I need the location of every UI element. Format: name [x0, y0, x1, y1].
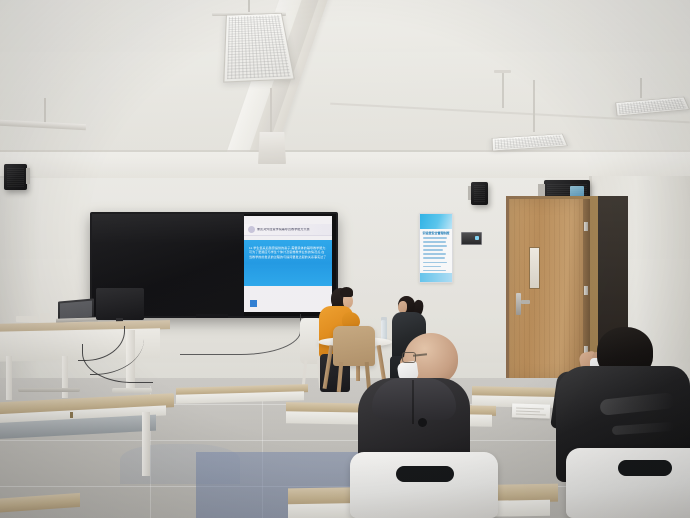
slide-content-band: 11.学生集采后随意提供的案子,需要具体的辅导教学能力,可为了更顺应与学生个体计…: [244, 240, 332, 286]
person-orange-hoodie-hair: [340, 287, 353, 297]
classroom-door[interactable]: [509, 199, 585, 380]
classroom-photo: 重庆对外经贸学院辅导员教学能力大赛 11.学生集采后随意提供的案子,需要具体的辅…: [0, 0, 690, 518]
slide-header: 重庆对外经贸学院辅导员教学能力大赛: [244, 224, 332, 236]
chair-handle-slot: [396, 466, 454, 482]
chair-handle-slot: [618, 460, 672, 476]
wall-speaker-left-bracket: [26, 168, 30, 184]
ceiling-speaker-left: [258, 132, 286, 164]
person-bald-mask-hood: [372, 378, 456, 420]
door-lock-icon[interactable]: [521, 300, 530, 304]
ceiling-soffit-line: [0, 150, 690, 152]
white-chair-center[interactable]: [350, 452, 498, 518]
desk-item-cup: [40, 313, 50, 322]
student-desk-leg-left: [142, 412, 150, 476]
door-wood-grain: [509, 199, 585, 380]
led-panel-rod-center2: [533, 80, 535, 132]
led-panel-mount-center: [494, 70, 511, 73]
laptop-screen: [60, 301, 92, 320]
door-hinge-top: [584, 222, 588, 231]
water-bottle[interactable]: [381, 320, 387, 340]
poster-text-lines: [423, 237, 449, 278]
wall-control-panel[interactable]: [461, 232, 482, 245]
teacher-desk-leg-left: [6, 356, 12, 400]
hood-toggle-icon: [418, 418, 427, 427]
display-glare: [92, 214, 244, 244]
presentation-slide: 重庆对外经贸学院辅导员教学能力大赛 11.学生集采后随意提供的案子,需要具体的辅…: [244, 216, 332, 312]
desktop-monitor[interactable]: [96, 288, 144, 320]
hood-seam: [412, 380, 414, 424]
led-panel-rod-center: [502, 72, 504, 108]
paper-sheet-mid[interactable]: [512, 403, 550, 418]
white-chair-right[interactable]: [566, 448, 690, 518]
door-window: [529, 247, 540, 289]
poster-header-banner: [420, 214, 452, 229]
wall-speaker-right: [471, 182, 488, 205]
desk-item-paper: [16, 316, 38, 322]
ceiling-speaker-rod: [270, 88, 272, 136]
door-hinge-mid: [584, 286, 588, 295]
wall-information-poster: 实验室安全管理制度: [419, 213, 453, 283]
floor-cable-tray: [18, 388, 80, 392]
desk-hook-icon: [70, 412, 73, 418]
desk-cables: [78, 326, 178, 386]
slide-title: 重庆对外经贸学院辅导员教学能力大赛: [257, 228, 310, 231]
poster-heading: 实验室安全管理制度: [420, 231, 452, 235]
slide-body-text: 11.学生集采后随意提供的案子,需要具体的辅导教学能力,可为了更顺应与学生个体计…: [249, 246, 327, 259]
status-led-icon: [475, 236, 479, 240]
teacher-desk-foot: [112, 388, 152, 393]
ceiling-soffit: [0, 152, 690, 180]
tan-chair[interactable]: [333, 326, 375, 366]
wall-speaker-right-bracket: [468, 186, 471, 200]
wall-speaker-left: [4, 164, 27, 190]
door-handle[interactable]: [516, 293, 521, 315]
led-panel-rod-right: [640, 78, 642, 98]
square-mark-icon: [250, 300, 257, 307]
poster-footer-banner: [420, 273, 452, 282]
circle-logo-icon: [248, 226, 255, 233]
